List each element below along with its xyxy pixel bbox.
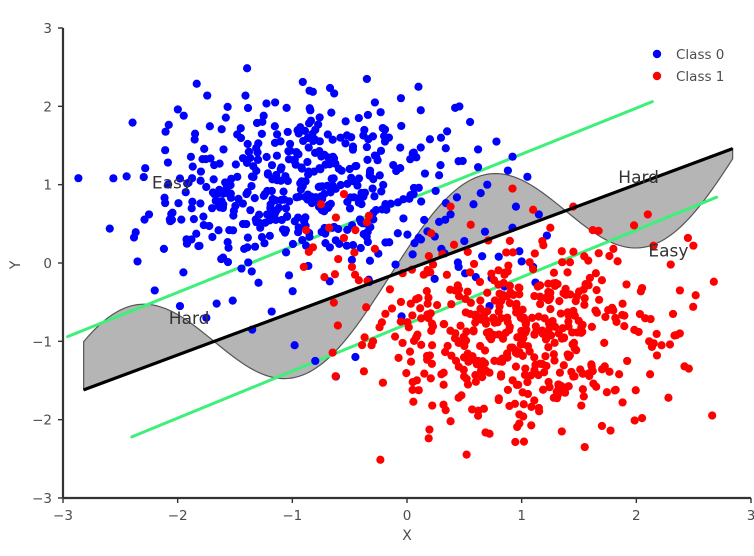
data-point xyxy=(531,249,539,257)
data-point xyxy=(622,280,630,288)
data-point xyxy=(460,372,468,380)
data-point xyxy=(244,104,252,112)
data-point xyxy=(490,331,498,339)
data-point xyxy=(467,221,475,229)
data-point xyxy=(328,175,336,183)
data-point xyxy=(254,139,262,147)
data-point xyxy=(558,258,566,266)
data-point xyxy=(355,174,363,182)
data-point xyxy=(161,146,169,154)
data-point xyxy=(309,88,317,96)
data-point xyxy=(637,287,645,295)
data-point xyxy=(218,125,226,133)
data-point xyxy=(388,304,396,312)
data-point xyxy=(279,188,287,196)
data-point xyxy=(535,407,543,415)
data-point xyxy=(463,288,471,296)
data-point xyxy=(428,401,436,409)
data-point xyxy=(618,398,626,406)
data-point xyxy=(352,162,360,170)
data-point xyxy=(239,220,247,228)
data-point xyxy=(689,242,697,250)
data-point xyxy=(676,329,684,337)
data-point xyxy=(372,152,380,160)
data-point xyxy=(305,119,313,127)
data-point xyxy=(128,119,136,127)
data-point xyxy=(460,237,468,245)
data-point xyxy=(174,199,182,207)
data-point xyxy=(581,443,589,451)
data-point xyxy=(604,306,612,314)
data-point xyxy=(160,245,168,253)
data-point xyxy=(262,99,270,107)
data-point xyxy=(251,243,259,251)
data-point xyxy=(417,314,425,322)
data-point xyxy=(527,421,535,429)
data-point xyxy=(179,268,187,276)
data-point xyxy=(219,254,227,262)
data-point xyxy=(253,148,261,156)
data-point xyxy=(295,223,303,231)
data-point xyxy=(464,380,472,388)
data-point xyxy=(317,152,325,160)
data-point xyxy=(598,276,606,284)
data-point xyxy=(248,267,256,275)
data-point xyxy=(268,307,276,315)
data-point xyxy=(375,323,383,331)
data-point xyxy=(588,323,596,331)
data-point xyxy=(291,341,299,349)
data-point xyxy=(477,189,485,197)
data-point xyxy=(340,234,348,242)
y-tick-label: 2 xyxy=(43,99,52,115)
data-point xyxy=(417,106,425,114)
data-point xyxy=(321,239,329,247)
data-point xyxy=(370,192,378,200)
data-point xyxy=(515,410,523,418)
data-point xyxy=(455,102,463,110)
data-point xyxy=(222,113,230,121)
data-point xyxy=(224,244,232,252)
data-point xyxy=(266,232,274,240)
data-point xyxy=(140,216,148,224)
data-point xyxy=(558,247,566,255)
data-point xyxy=(595,296,603,304)
data-point xyxy=(476,296,484,304)
data-point xyxy=(318,182,326,190)
data-point xyxy=(447,352,455,360)
data-point xyxy=(348,256,356,264)
data-point xyxy=(585,369,593,377)
data-point xyxy=(289,287,297,295)
data-point xyxy=(317,200,325,208)
data-point xyxy=(366,257,374,265)
data-point xyxy=(479,357,487,365)
data-point xyxy=(620,312,628,320)
data-point xyxy=(506,288,514,296)
data-point xyxy=(503,349,511,357)
x-axis-title: X xyxy=(402,528,412,544)
data-point xyxy=(558,427,566,435)
data-point xyxy=(572,346,580,354)
data-point xyxy=(381,310,389,318)
data-point xyxy=(512,300,520,308)
data-point xyxy=(428,320,436,328)
data-point xyxy=(555,297,563,305)
data-point xyxy=(466,118,474,126)
data-point xyxy=(495,394,503,402)
data-point xyxy=(467,299,475,307)
data-point xyxy=(407,300,415,308)
data-point xyxy=(478,252,486,260)
data-point xyxy=(595,249,603,257)
data-point xyxy=(692,291,700,299)
legend-label-class-1[interactable]: Class 1 xyxy=(676,69,724,85)
data-point xyxy=(331,270,339,278)
data-point xyxy=(187,153,195,161)
data-point xyxy=(363,75,371,83)
data-point xyxy=(414,83,422,91)
data-point xyxy=(299,78,307,86)
data-point xyxy=(306,104,314,112)
data-point xyxy=(243,64,251,72)
data-point xyxy=(226,181,234,189)
data-point xyxy=(160,194,168,202)
data-point xyxy=(457,391,465,399)
data-point xyxy=(133,257,141,265)
data-point xyxy=(559,289,567,297)
data-point xyxy=(197,177,205,185)
data-point xyxy=(428,341,436,349)
data-point xyxy=(638,414,646,422)
data-point xyxy=(271,122,279,130)
data-point xyxy=(495,357,503,365)
data-point xyxy=(349,146,357,154)
data-point xyxy=(206,122,214,130)
data-point xyxy=(609,245,617,253)
data-point xyxy=(664,394,672,402)
y-tick-label: −1 xyxy=(32,334,52,350)
data-point xyxy=(200,145,208,153)
data-point xyxy=(613,257,621,265)
x-tick-label: 0 xyxy=(403,508,412,524)
data-point xyxy=(399,214,407,222)
data-point xyxy=(141,164,149,172)
data-point xyxy=(546,224,554,232)
data-point xyxy=(229,226,237,234)
data-point xyxy=(586,274,594,282)
data-point xyxy=(213,300,221,308)
data-point xyxy=(492,137,500,145)
data-point xyxy=(188,198,196,206)
data-point xyxy=(233,130,241,138)
data-point xyxy=(443,271,451,279)
data-point xyxy=(268,161,276,169)
data-point xyxy=(361,333,369,341)
data-point xyxy=(506,237,514,245)
data-point xyxy=(377,108,385,116)
data-point xyxy=(241,92,249,100)
data-point xyxy=(295,129,303,137)
data-point xyxy=(249,173,257,181)
data-point xyxy=(341,139,349,147)
data-point xyxy=(397,94,405,102)
data-point xyxy=(369,132,377,140)
annotation-easy-upper-left: Easy xyxy=(152,174,192,194)
data-point xyxy=(190,215,198,223)
data-point xyxy=(379,379,387,387)
data-point xyxy=(177,216,185,224)
data-point xyxy=(580,392,588,400)
data-point xyxy=(334,321,342,329)
data-point xyxy=(371,245,379,253)
data-point xyxy=(251,194,259,202)
data-point xyxy=(239,199,247,207)
data-point xyxy=(529,265,537,273)
data-point xyxy=(123,172,131,180)
data-point xyxy=(443,127,451,135)
data-point xyxy=(427,327,435,335)
data-point xyxy=(529,206,537,214)
data-point xyxy=(508,184,516,192)
data-point xyxy=(343,242,351,250)
data-point xyxy=(183,240,191,248)
data-point xyxy=(631,416,639,424)
data-point xyxy=(427,309,435,317)
data-point xyxy=(351,226,359,234)
data-point xyxy=(469,200,477,208)
data-point xyxy=(403,231,411,239)
data-point xyxy=(410,337,418,345)
data-point xyxy=(386,285,394,293)
data-point xyxy=(578,328,586,336)
data-point xyxy=(600,339,608,347)
data-point xyxy=(342,117,350,125)
data-point xyxy=(491,319,499,327)
data-point xyxy=(459,157,467,165)
data-point xyxy=(605,368,613,376)
data-point xyxy=(455,292,463,300)
data-point xyxy=(273,130,281,138)
data-point xyxy=(502,329,510,337)
data-point xyxy=(363,143,371,151)
data-point xyxy=(630,326,638,334)
data-point xyxy=(437,134,445,142)
data-point xyxy=(446,286,454,294)
data-point xyxy=(276,137,284,145)
data-point xyxy=(166,217,174,225)
data-point xyxy=(591,306,599,314)
data-point xyxy=(605,252,613,260)
data-point xyxy=(542,335,550,343)
data-point xyxy=(611,314,619,322)
data-point xyxy=(685,365,693,373)
data-point xyxy=(440,369,448,377)
data-point xyxy=(358,341,366,349)
data-point xyxy=(359,131,367,139)
data-point xyxy=(530,292,538,300)
data-point xyxy=(560,333,568,341)
data-point xyxy=(214,190,222,198)
data-point xyxy=(520,400,528,408)
data-point xyxy=(491,296,499,304)
data-point xyxy=(414,294,422,302)
data-point xyxy=(615,370,623,378)
data-point xyxy=(455,363,463,371)
data-point xyxy=(425,434,433,442)
data-point xyxy=(513,381,521,389)
data-point xyxy=(564,322,572,330)
data-point xyxy=(530,366,538,374)
data-point xyxy=(417,197,425,205)
data-point xyxy=(231,202,239,210)
data-point xyxy=(219,145,227,153)
data-point xyxy=(526,258,534,266)
data-point xyxy=(332,372,340,380)
data-point xyxy=(515,290,523,298)
data-point xyxy=(504,261,512,269)
data-point xyxy=(648,343,656,351)
data-point xyxy=(192,230,200,238)
data-point xyxy=(391,332,399,340)
data-point xyxy=(603,388,611,396)
data-point xyxy=(376,171,384,179)
data-point xyxy=(513,423,521,431)
data-point xyxy=(689,303,697,311)
data-point xyxy=(476,278,484,286)
data-point xyxy=(210,175,218,183)
data-point xyxy=(469,327,477,335)
data-point xyxy=(435,171,443,179)
data-point xyxy=(504,166,512,174)
data-point xyxy=(330,299,338,307)
data-point xyxy=(271,98,279,106)
legend-label-class-0[interactable]: Class 0 xyxy=(676,47,724,63)
data-point xyxy=(325,224,333,232)
data-point xyxy=(406,155,414,163)
data-point xyxy=(577,401,585,409)
data-point xyxy=(243,159,251,167)
data-point xyxy=(305,168,313,176)
data-point xyxy=(423,356,431,364)
data-point xyxy=(554,391,562,399)
data-point xyxy=(351,353,359,361)
annotation-easy-lower-right: Easy xyxy=(648,242,688,262)
data-point xyxy=(244,140,252,148)
data-point xyxy=(481,228,489,236)
data-point xyxy=(198,155,206,163)
data-point xyxy=(281,172,289,180)
data-point xyxy=(191,135,199,143)
data-point xyxy=(280,196,288,204)
data-point xyxy=(530,353,538,361)
data-point xyxy=(232,160,240,168)
data-point xyxy=(450,241,458,249)
data-point xyxy=(454,258,462,266)
data-point xyxy=(406,348,414,356)
data-point xyxy=(572,297,580,305)
data-point xyxy=(305,143,313,151)
data-point xyxy=(397,318,405,326)
data-point xyxy=(471,371,479,379)
data-point xyxy=(334,255,342,263)
data-point xyxy=(511,438,519,446)
data-point xyxy=(440,381,448,389)
data-point xyxy=(285,155,293,163)
y-tick-label: −2 xyxy=(32,413,52,429)
data-point xyxy=(553,280,561,288)
data-point xyxy=(541,352,549,360)
data-point xyxy=(409,386,417,394)
data-point xyxy=(456,322,464,330)
data-point xyxy=(630,221,638,229)
data-point xyxy=(538,360,546,368)
data-point xyxy=(433,301,441,309)
data-point xyxy=(512,362,520,370)
data-point xyxy=(376,456,384,464)
data-point xyxy=(391,260,399,268)
data-point xyxy=(335,165,343,173)
data-point xyxy=(394,229,402,237)
data-point xyxy=(532,327,540,335)
data-point xyxy=(451,334,459,342)
data-point xyxy=(474,163,482,171)
data-point xyxy=(441,216,449,224)
data-point xyxy=(252,215,260,223)
data-point xyxy=(369,184,377,192)
data-point xyxy=(363,156,371,164)
data-point xyxy=(253,119,261,127)
data-point xyxy=(340,190,348,198)
data-point xyxy=(326,84,334,92)
data-point xyxy=(385,238,393,246)
data-point xyxy=(563,268,571,276)
data-point xyxy=(151,286,159,294)
data-point xyxy=(579,385,587,393)
data-point xyxy=(585,281,593,289)
data-point xyxy=(462,328,470,336)
data-point xyxy=(569,248,577,256)
data-point xyxy=(442,144,450,152)
data-point xyxy=(304,134,312,142)
data-point xyxy=(504,386,512,394)
data-point xyxy=(565,311,573,319)
data-point xyxy=(396,164,404,172)
data-point xyxy=(229,297,237,305)
data-point xyxy=(277,165,285,173)
data-point xyxy=(468,352,476,360)
data-point xyxy=(189,162,197,170)
data-point xyxy=(447,300,455,308)
data-point xyxy=(432,187,440,195)
data-point xyxy=(284,128,292,136)
data-point xyxy=(283,104,291,112)
data-point xyxy=(518,257,526,265)
data-point xyxy=(396,144,404,152)
data-point xyxy=(381,125,389,133)
data-point xyxy=(580,301,588,309)
x-tick-label: −2 xyxy=(168,508,188,524)
data-point xyxy=(427,229,435,237)
data-point xyxy=(244,258,252,266)
data-point xyxy=(560,361,568,369)
data-point xyxy=(140,173,148,181)
data-point xyxy=(254,156,262,164)
data-point xyxy=(480,405,488,413)
data-point xyxy=(229,211,237,219)
data-point xyxy=(508,153,516,161)
data-point xyxy=(205,222,213,230)
